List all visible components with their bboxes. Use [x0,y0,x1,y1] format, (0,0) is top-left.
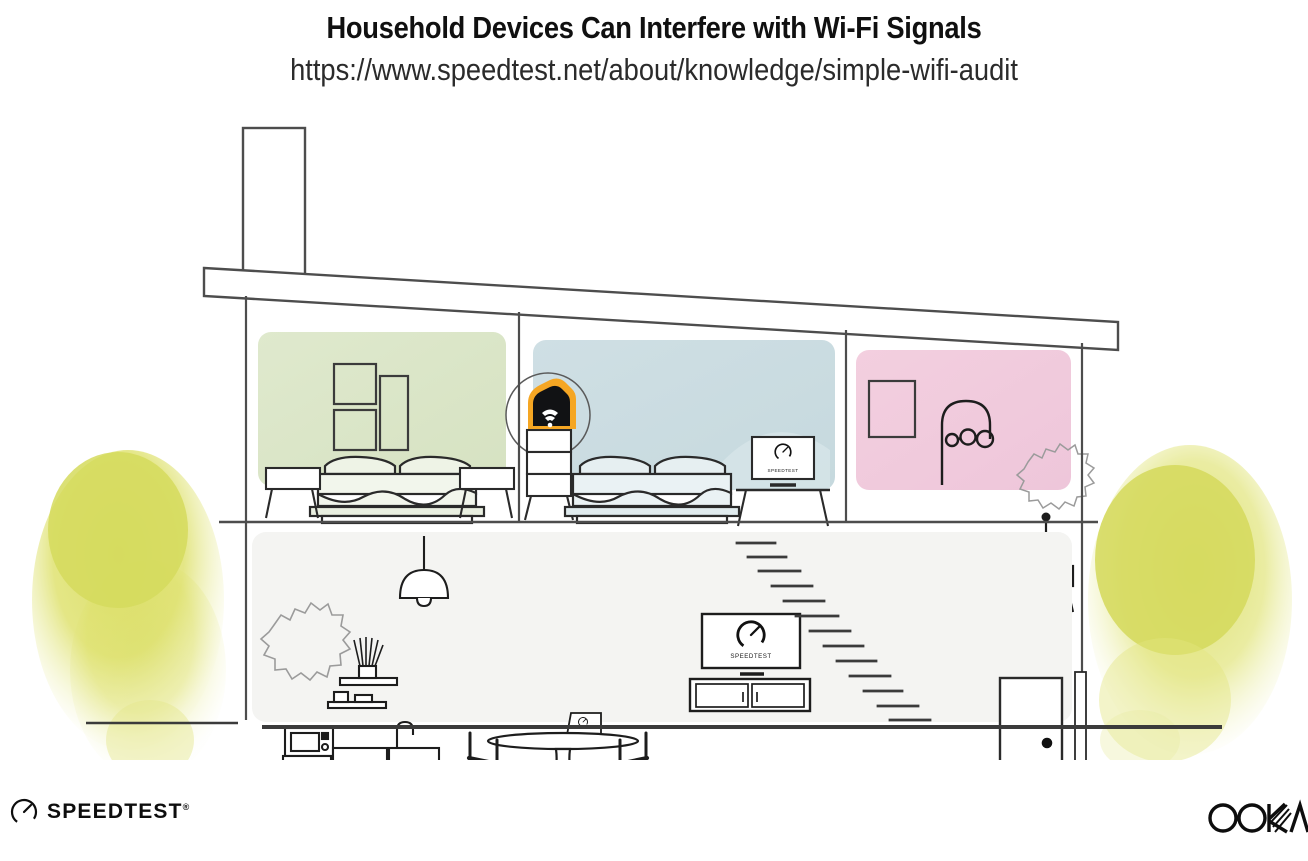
entry [1000,672,1086,760]
house-illustration: SPEEDTEST [0,100,1308,760]
dining-table [488,733,638,760]
foliage-right [1088,445,1292,760]
room-ground-floor [252,532,1072,722]
brand-name: SPEEDTEST® [47,800,189,824]
ookla-logo [1207,792,1308,840]
door-knob [1042,738,1053,749]
window-strip [1075,672,1086,760]
microwave [285,728,333,756]
speedtest-brand: SPEEDTEST® [10,798,189,826]
tv-brand-label: SPEEDTEST [730,653,771,660]
header: Household Devices Can Interfere with Wi-… [0,0,1308,88]
infographic-canvas: Household Devices Can Interfere with Wi-… [0,0,1308,861]
room-blue-bedroom: SPEEDTEST [506,340,835,526]
room-green-bedroom [258,332,514,523]
front-door [1000,678,1062,760]
foliage-left [32,450,226,760]
roof [204,128,1118,350]
media-console [690,679,810,711]
monitor-brand-label: SPEEDTEST [768,468,799,473]
trademark-symbol: ® [183,802,190,812]
speedometer-icon [10,798,38,826]
chimney [243,128,305,278]
page-title: Household Devices Can Interfere with Wi-… [78,0,1229,46]
living-area [690,614,810,711]
source-url: https://www.speedtest.net/about/knowledg… [78,46,1229,88]
